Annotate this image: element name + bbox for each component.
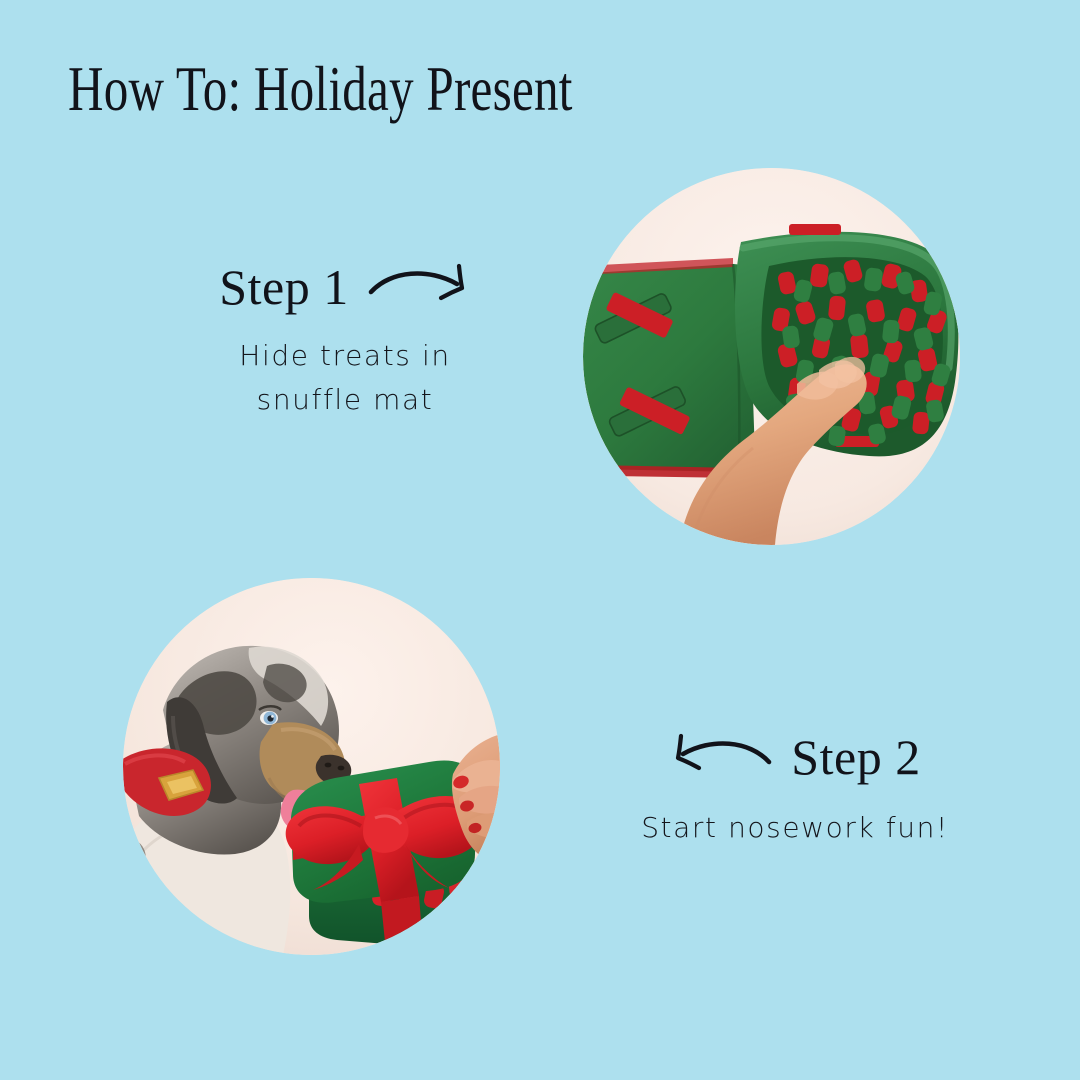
curved-arrow-right-icon bbox=[367, 262, 471, 312]
snuffle-mat-flap bbox=[583, 258, 755, 478]
page-title: How To: Holiday Present bbox=[68, 58, 573, 121]
snuffle-mat-illustration bbox=[583, 168, 960, 545]
step-1-heading: Step 1 bbox=[155, 262, 535, 312]
step-1-description: Hide treats in snuffle mat bbox=[155, 334, 535, 422]
dog-with-gift-photo bbox=[123, 578, 500, 955]
step-2-description: Start nosework fun! bbox=[580, 806, 1010, 850]
step-2-heading: Step 2 bbox=[580, 732, 1010, 782]
step-1-block: Step 1 Hide treats in snuffle mat bbox=[155, 262, 535, 422]
step-2-label: Step 2 bbox=[791, 732, 920, 782]
poster-canvas: How To: Holiday Present bbox=[0, 0, 1080, 1080]
snuffle-mat-photo bbox=[583, 168, 960, 545]
dog-with-gift-illustration bbox=[123, 578, 500, 955]
step-1-label: Step 1 bbox=[219, 262, 348, 312]
step-2-block: Step 2 Start nosework fun! bbox=[580, 732, 1010, 850]
curved-arrow-left-icon bbox=[669, 732, 773, 782]
